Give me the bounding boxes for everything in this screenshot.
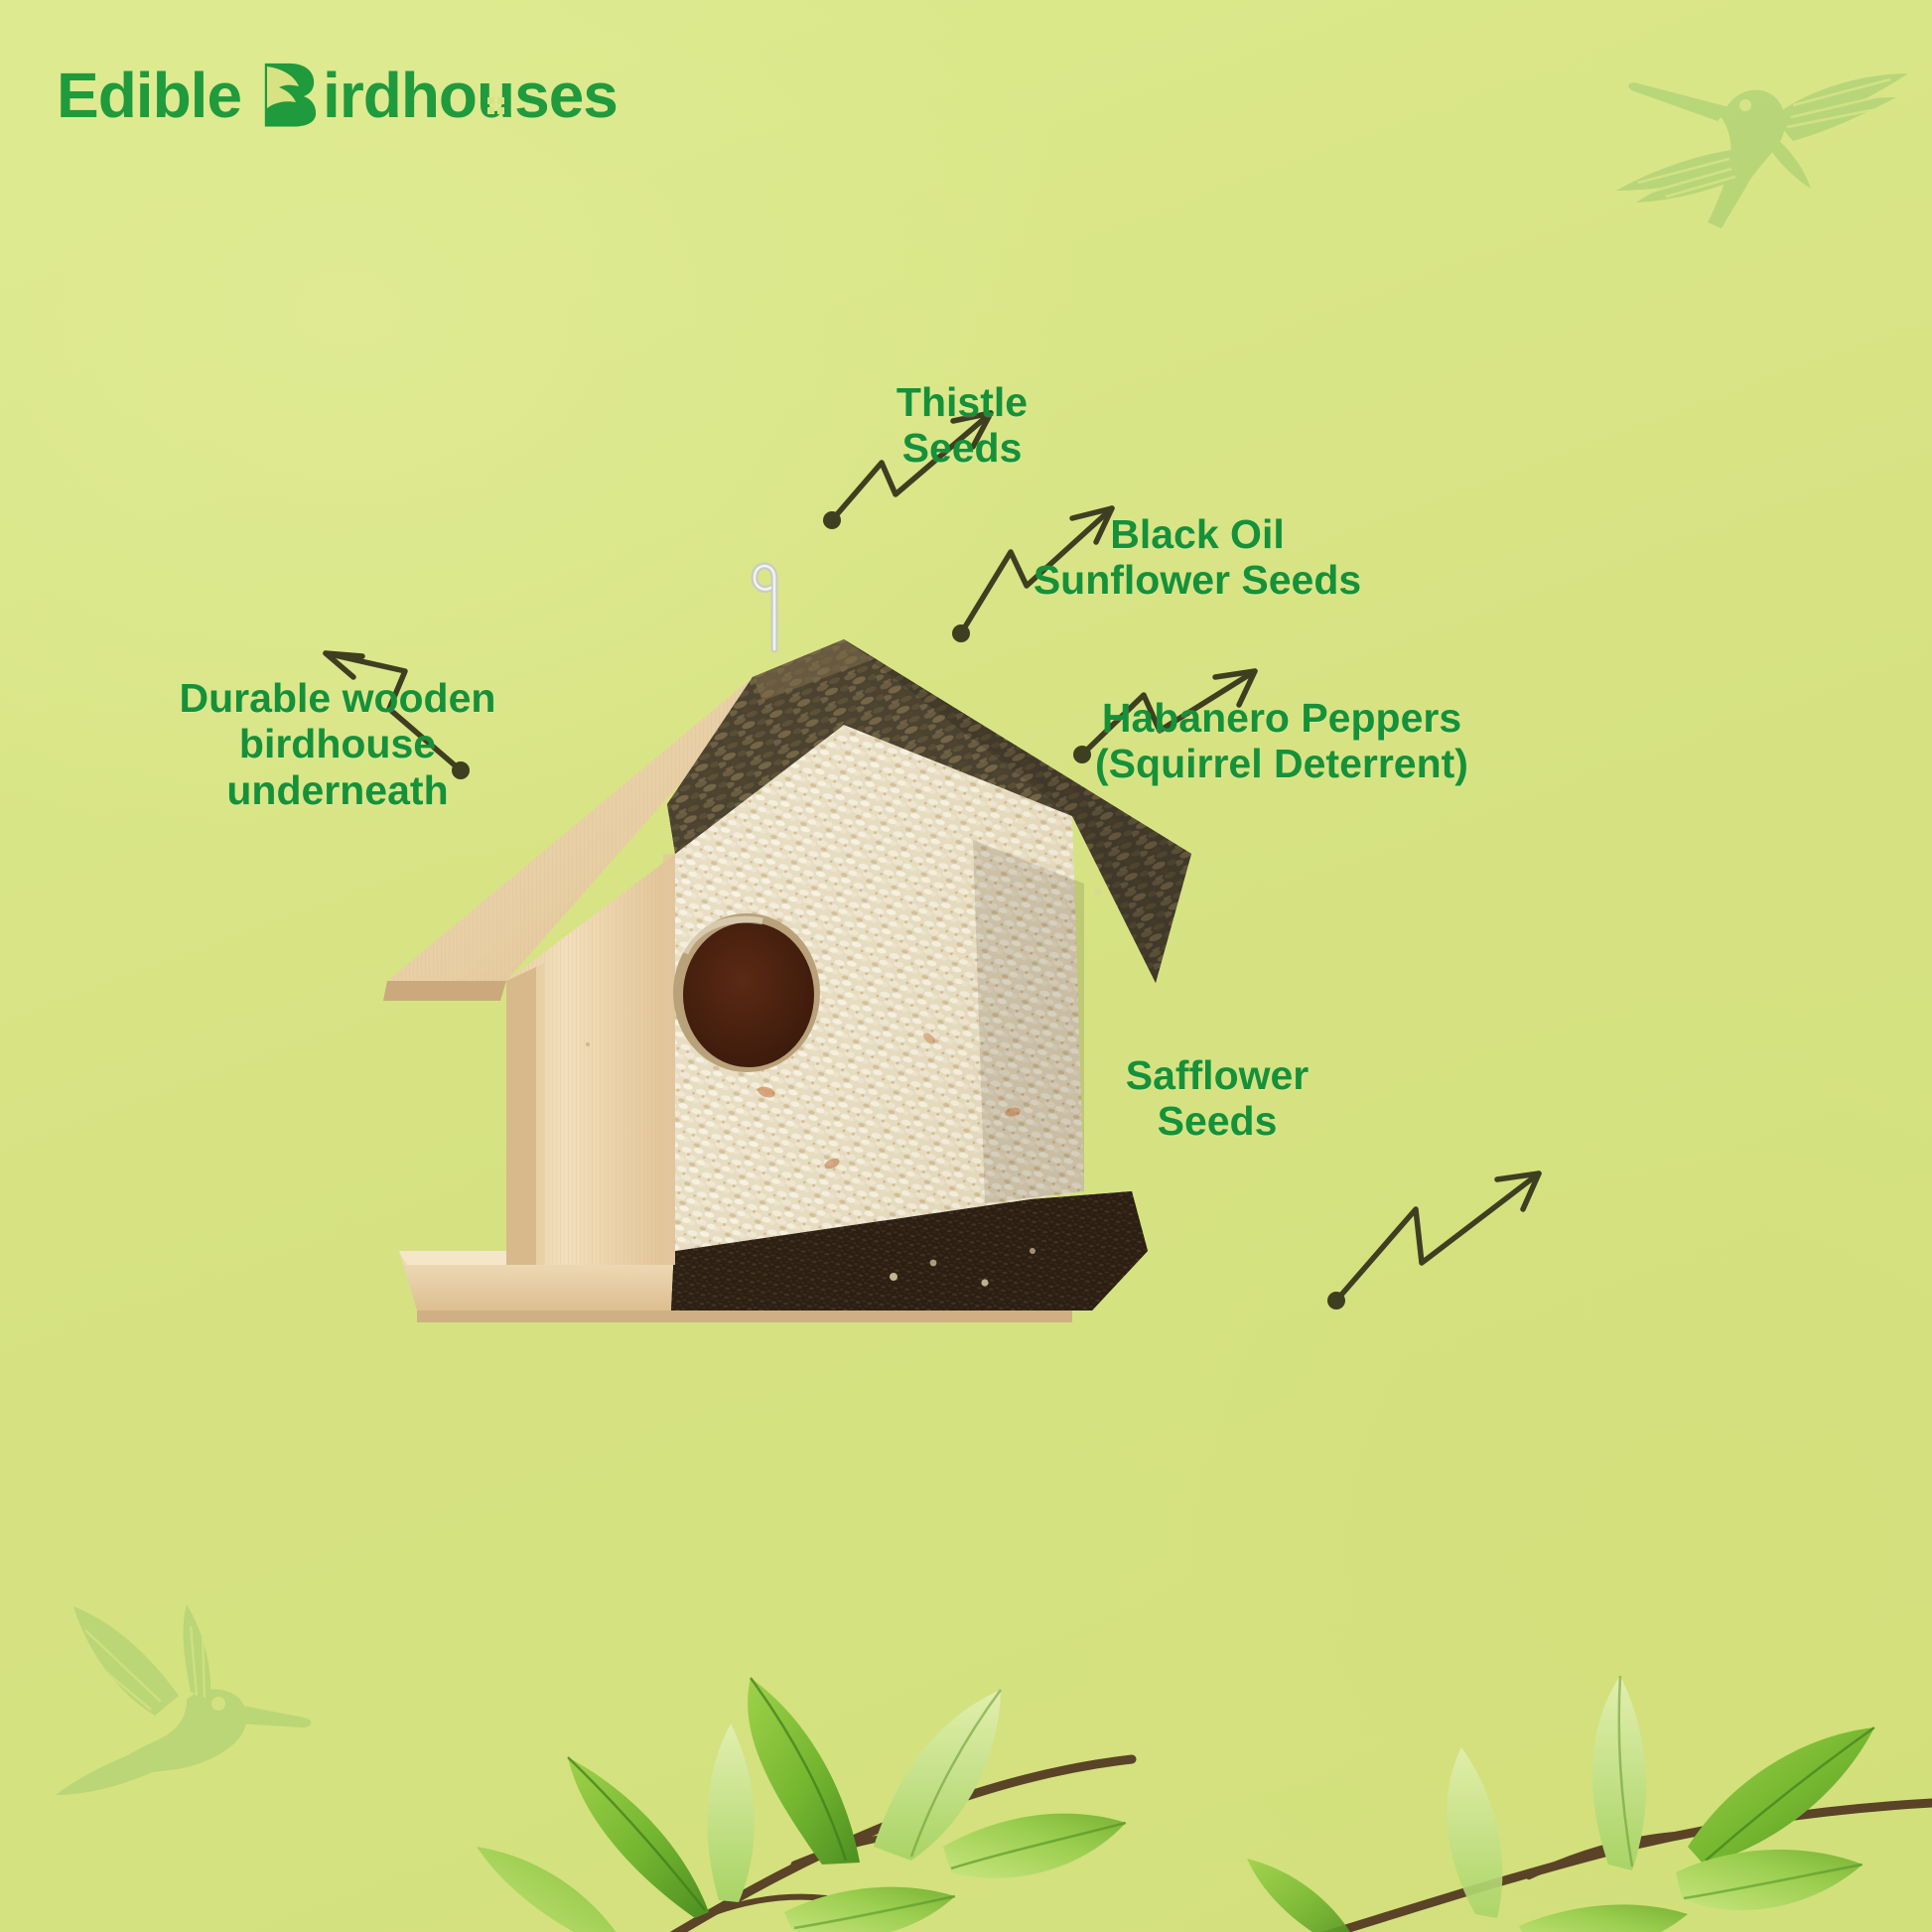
house-window-icon	[487, 97, 504, 114]
leaf-branch-decoration	[0, 1549, 1932, 1932]
arrow-safflower	[1327, 1173, 1539, 1310]
brand-word-edible: Edible	[57, 64, 241, 127]
callout-thistle-seeds: Thistle Seeds	[798, 379, 1126, 472]
hummingbird-icon	[1581, 44, 1932, 252]
leaf-bird-b-icon	[261, 61, 319, 130]
callout-durable-wooden-birdhouse: Durable wooden birdhouse underneath	[139, 675, 536, 813]
brand-word-birdhouses-text: irdhouses	[323, 60, 618, 131]
leaf-branch-center	[477, 1678, 1132, 1932]
callout-black-oil-sunflower: Black Oil Sunflower Seeds	[989, 511, 1406, 604]
infographic-canvas: Edible irdhouses	[0, 0, 1932, 1932]
callout-habanero-peppers: Habanero Peppers (Squirrel Deterrent)	[1048, 695, 1515, 787]
brand-word-birdhouses: irdhouses	[323, 64, 618, 127]
brand-logo: Edible irdhouses	[57, 57, 618, 134]
entrance-hole	[673, 913, 820, 1072]
callout-safflower-seeds: Safflower Seeds	[1048, 1052, 1386, 1145]
metal-hanging-hook	[755, 556, 778, 649]
leaf-branch-right	[1247, 1676, 1932, 1932]
